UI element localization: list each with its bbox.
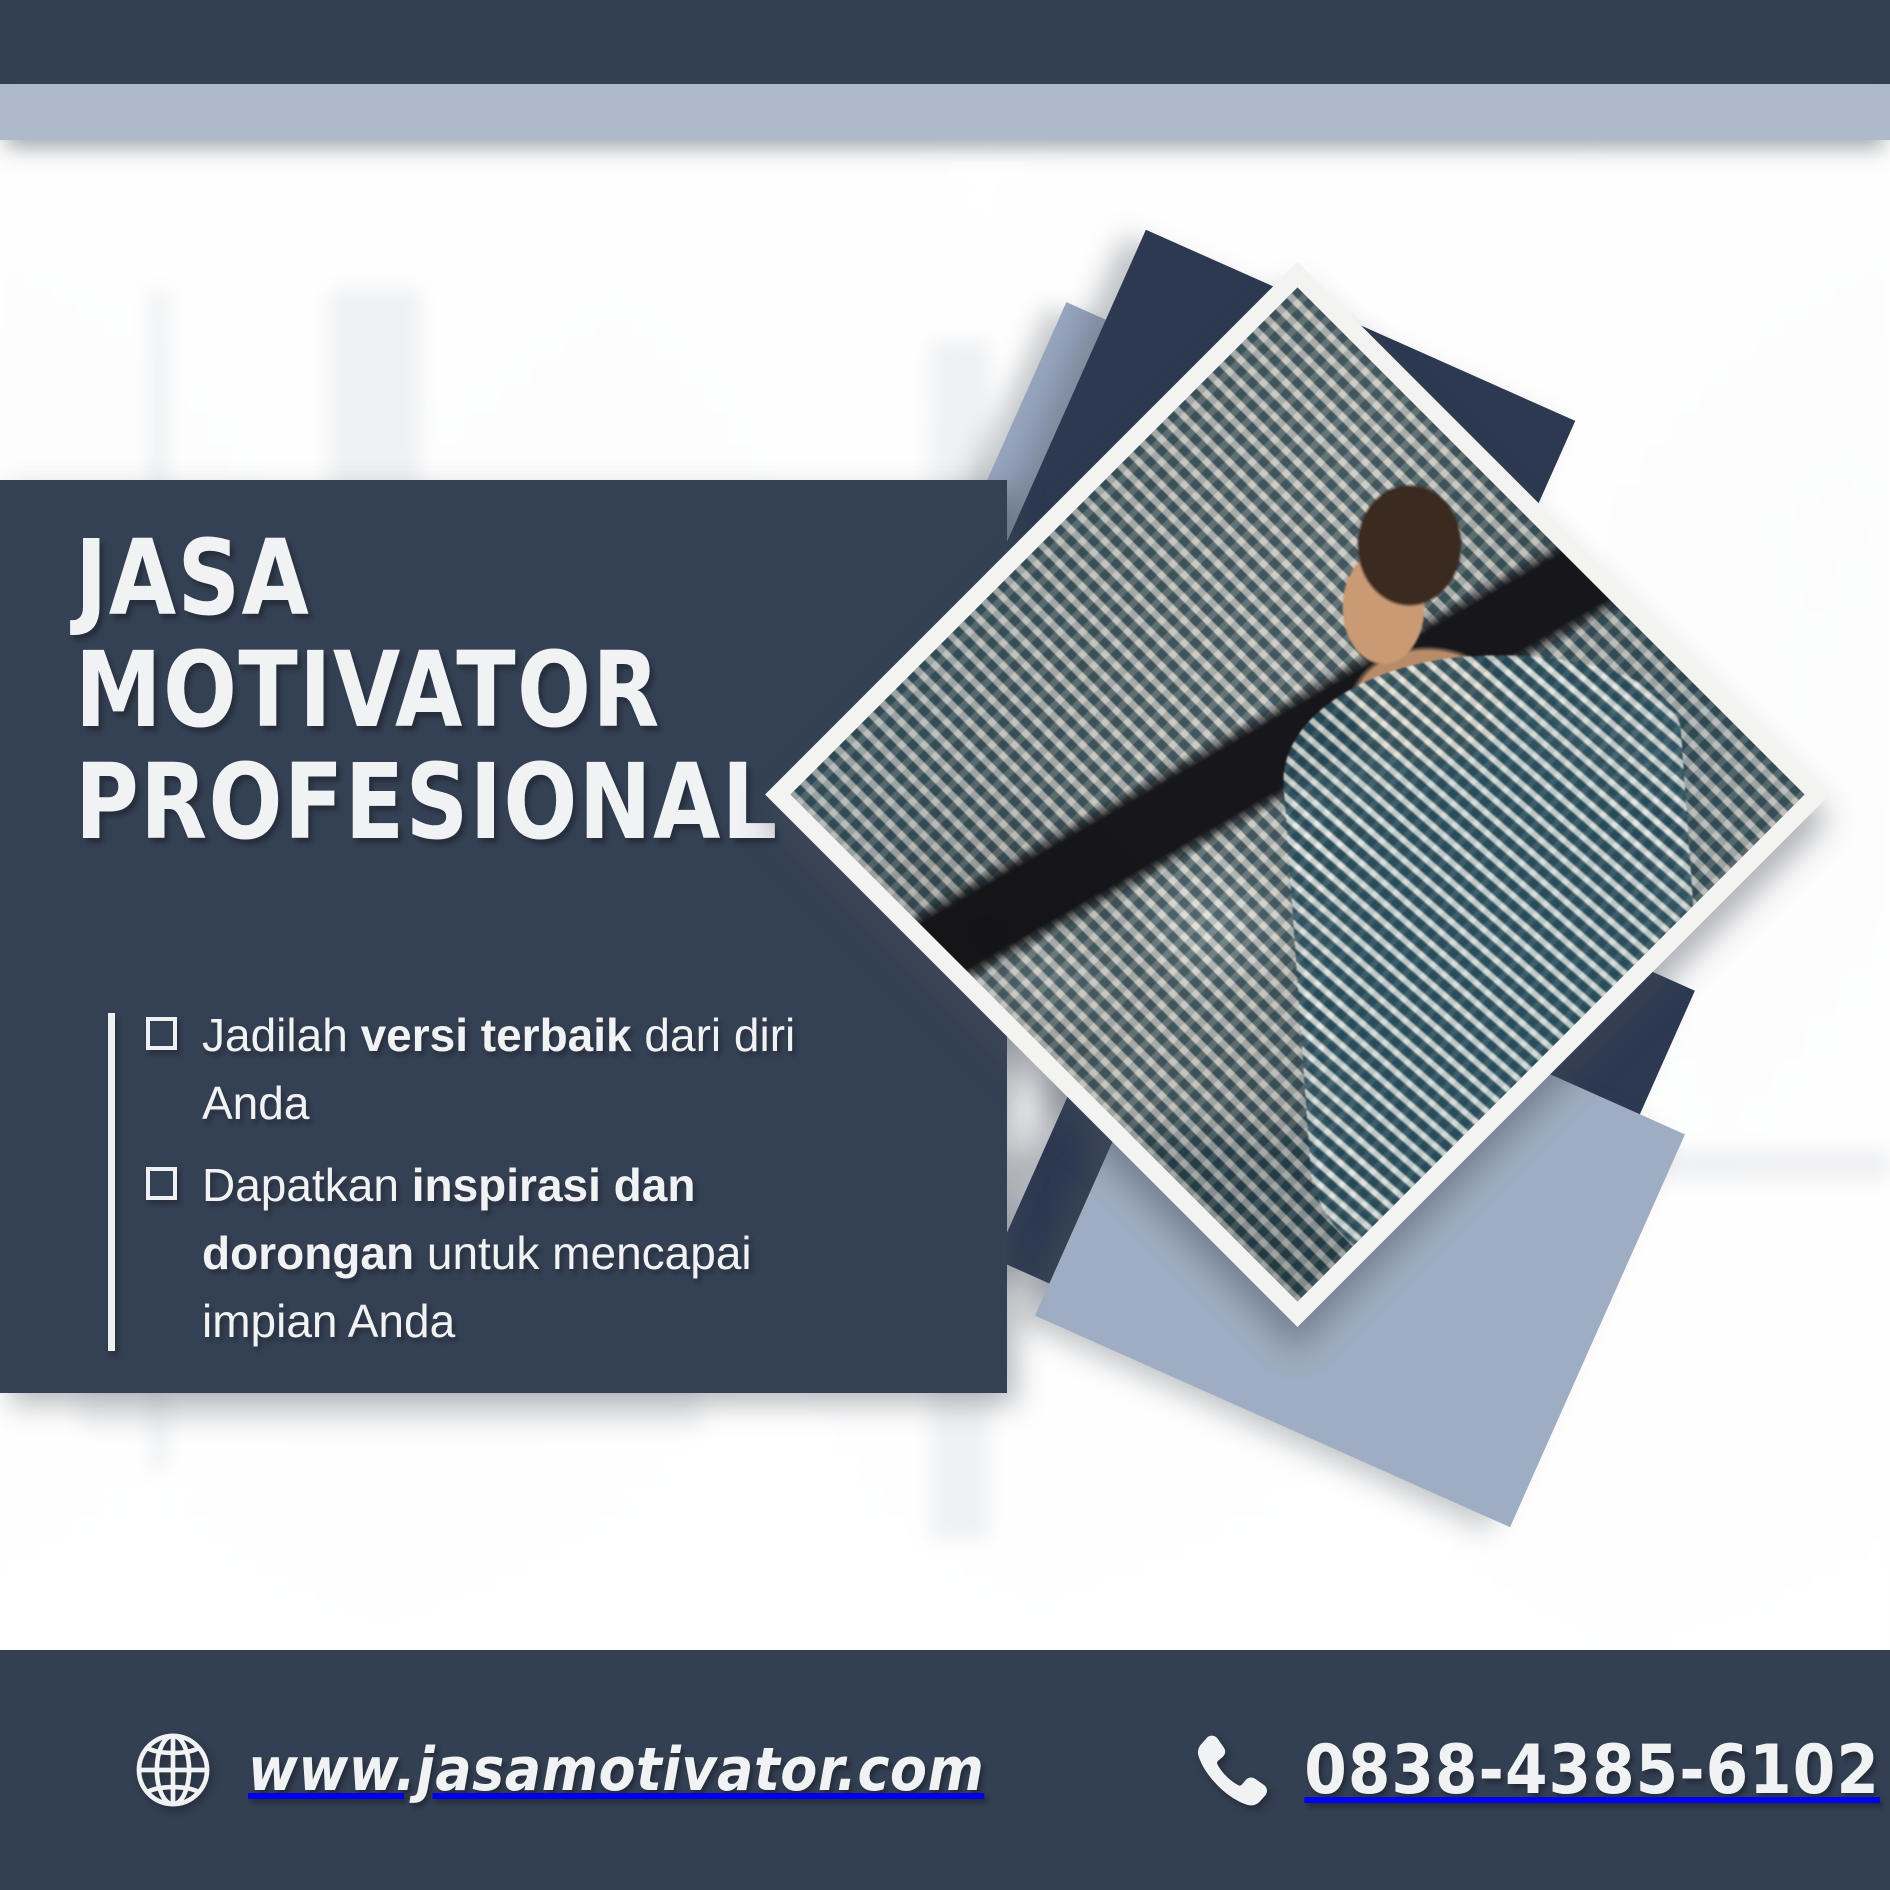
footer-bar: www.jasamotivator.com 0838-4385-6102: [0, 1650, 1890, 1890]
phone-text: 0838-4385-6102: [1304, 1731, 1880, 1810]
bullet-text-bold: versi terbaik: [361, 1009, 632, 1061]
speaker-photo-frame: [765, 262, 1830, 1327]
phone-handset-icon: [1184, 1728, 1268, 1812]
page-title: JASA MOTIVATOR PROFESIONAL: [75, 522, 779, 858]
headline-line-1: JASA: [75, 522, 779, 634]
speaker-photo: [791, 288, 1805, 1302]
list-item: Dapatkan inspirasi dan dorongan untuk me…: [146, 1151, 866, 1355]
poster-canvas: JASA MOTIVATOR PROFESIONAL Jadilah versi…: [0, 0, 1890, 1890]
headline-line-2: MOTIVATOR: [75, 634, 779, 746]
list-item: Jadilah versi terbaik dari diri Anda: [146, 1001, 866, 1137]
top-bar-light-blue: [0, 84, 1890, 140]
website-link[interactable]: www.jasamotivator.com: [130, 1727, 984, 1813]
globe-icon: [130, 1727, 216, 1813]
diamond-frame: [765, 262, 1830, 1327]
accent-vertical-rule: [108, 1013, 115, 1351]
footer-contact-row: www.jasamotivator.com 0838-4385-6102: [0, 1650, 1890, 1890]
top-bar-navy: [0, 0, 1890, 84]
checkbox-square-icon: [146, 1167, 177, 1200]
bullet-text-pre: Dapatkan: [202, 1159, 412, 1211]
diamond-photo-clip: [791, 288, 1805, 1302]
phone-link[interactable]: 0838-4385-6102: [1184, 1728, 1880, 1812]
benefits-list: Jadilah versi terbaik dari diri Anda Dap…: [146, 1001, 866, 1355]
headline-line-3: PROFESIONAL: [75, 746, 779, 858]
checkbox-square-icon: [146, 1017, 177, 1050]
bullet-text-pre: Jadilah: [202, 1009, 361, 1061]
website-text: www.jasamotivator.com: [248, 1735, 984, 1805]
